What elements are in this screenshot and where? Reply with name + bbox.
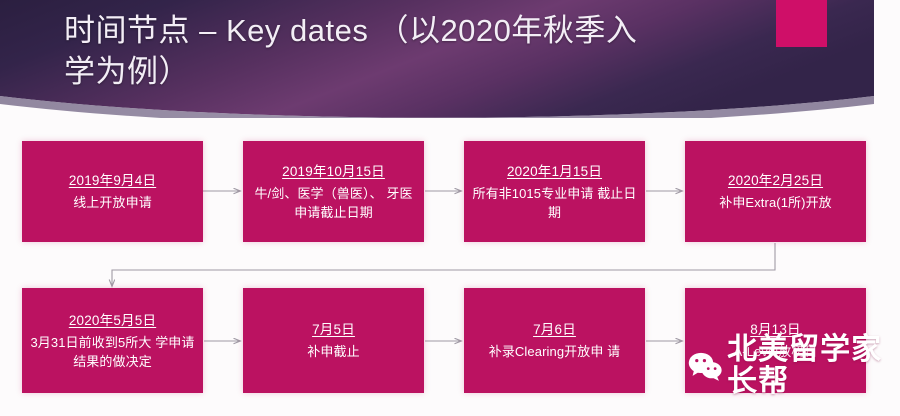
flow-box-description: 牛/剑、医学（兽医）、 牙医申请截止日期 (249, 184, 418, 222)
flow-box-step-4[interactable]: 2020年2月25日 补申Extra(1所)开放 (685, 141, 866, 242)
flow-box-step-2[interactable]: 2019年10月15日 牛/剑、医学（兽医）、 牙医申请截止日期 (243, 141, 424, 242)
header-banner: 时间节点 – Key dates （以2020年秋季入 学为例） (0, 0, 874, 118)
flow-box-description: 线上开放申请 (73, 193, 152, 212)
flow-box-step-5[interactable]: 2020年5月5日 3月31日前收到5所大 学申请结果的做决定 (22, 288, 203, 393)
flow-box-description: 补录Clearing开放申 请 (489, 342, 621, 361)
slide-title: 时间节点 – Key dates （以2020年秋季入 学为例） (64, 10, 754, 92)
header-accent-rectangle (776, 0, 827, 47)
flow-box-date: 2019年10月15日 (282, 162, 385, 181)
wechat-icon (688, 346, 723, 386)
flow-box-date: 2020年2月25日 (728, 171, 823, 190)
flow-box-date: 2019年9月4日 (69, 171, 156, 190)
flow-box-description: 所有非1015专业申请 截止日期 (470, 184, 639, 222)
flow-box-description: 3月31日前收到5所大 学申请结果的做决定 (28, 333, 197, 371)
flow-box-description: 补申Extra(1所)开放 (719, 193, 832, 212)
flow-box-date: 2020年5月5日 (69, 311, 156, 330)
flow-box-date: 7月6日 (533, 320, 576, 339)
flow-box-date: 2020年1月15日 (507, 162, 602, 181)
flow-box-step-7[interactable]: 7月6日 补录Clearing开放申 请 (464, 288, 645, 393)
wechat-watermark: 北美留学家长帮 (688, 340, 893, 392)
flow-box-step-6[interactable]: 7月5日 补申截止 (243, 288, 424, 393)
flow-box-step-1[interactable]: 2019年9月4日 线上开放申请 (22, 141, 203, 242)
flow-box-step-3[interactable]: 2020年1月15日 所有非1015专业申请 截止日期 (464, 141, 645, 242)
flow-box-date: 7月5日 (312, 320, 355, 339)
wechat-watermark-text: 北美留学家长帮 (727, 334, 893, 398)
flow-box-description: 补申截止 (307, 342, 359, 361)
